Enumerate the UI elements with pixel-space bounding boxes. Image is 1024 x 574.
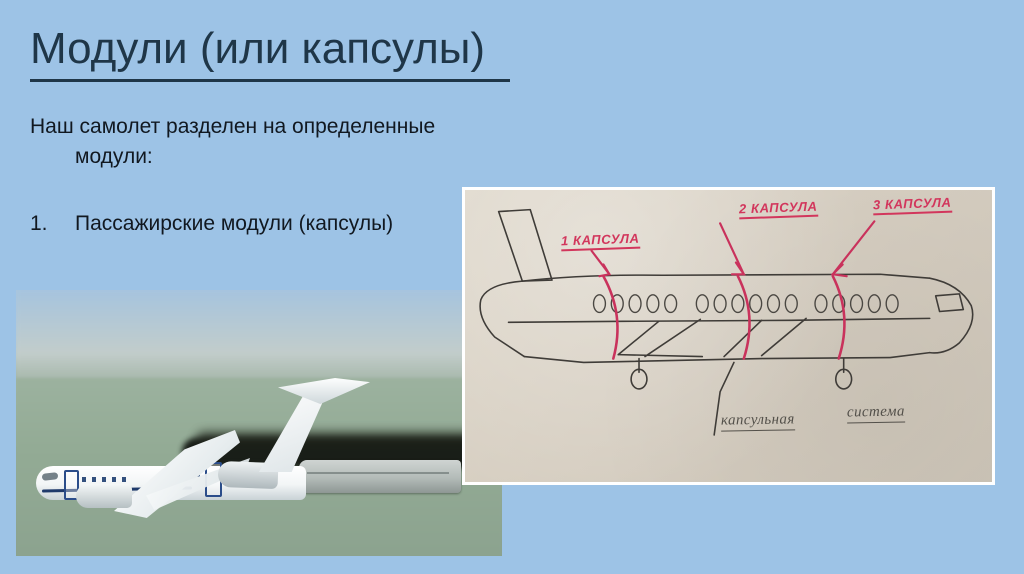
pencil-note-capsule-system-word1: капсульная: [721, 411, 795, 431]
aircraft-engine-front: [76, 484, 132, 508]
title-underline: [30, 79, 510, 82]
list-item: 1. Пассажирские модули (капсулы): [30, 209, 500, 239]
list-item-label: Пассажирские модули (капсулы): [75, 209, 500, 239]
lead-paragraph: Наш самолет разделен на определенные мод…: [30, 112, 500, 172]
detached-capsule-module: [299, 460, 461, 493]
capsule-label-3: 3 КАПСУЛА: [873, 195, 952, 216]
capsule-label-1: 1 КАПСУЛА: [561, 231, 640, 252]
numbered-list: 1. Пассажирские модули (капсулы): [30, 209, 500, 239]
smoke-trail-upper-icon: [196, 432, 502, 448]
slide-body: Наш самолет разделен на определенные мод…: [30, 112, 500, 238]
hand-drawn-capsule-diagram: 1 КАПСУЛА 2 КАПСУЛА 3 КАПСУЛА капсульная…: [462, 187, 995, 485]
sketch-strokes: [465, 190, 992, 482]
aircraft-capsule-photo: [16, 290, 502, 556]
lead-line-2: модули:: [30, 142, 500, 172]
lead-line-1: Наш самолет разделен на определенные: [30, 115, 435, 138]
page-title: Модули (или капсулы): [30, 26, 730, 72]
cabin-window-row: [82, 477, 126, 482]
photo-sky: [16, 290, 502, 380]
slide: Модули (или капсулы) Наш самолет разделе…: [0, 0, 1024, 574]
capsule-label-2: 2 КАПСУЛА: [739, 199, 818, 220]
list-item-marker: 1.: [30, 209, 75, 239]
pencil-note-capsule-system-word2: система: [847, 403, 905, 423]
